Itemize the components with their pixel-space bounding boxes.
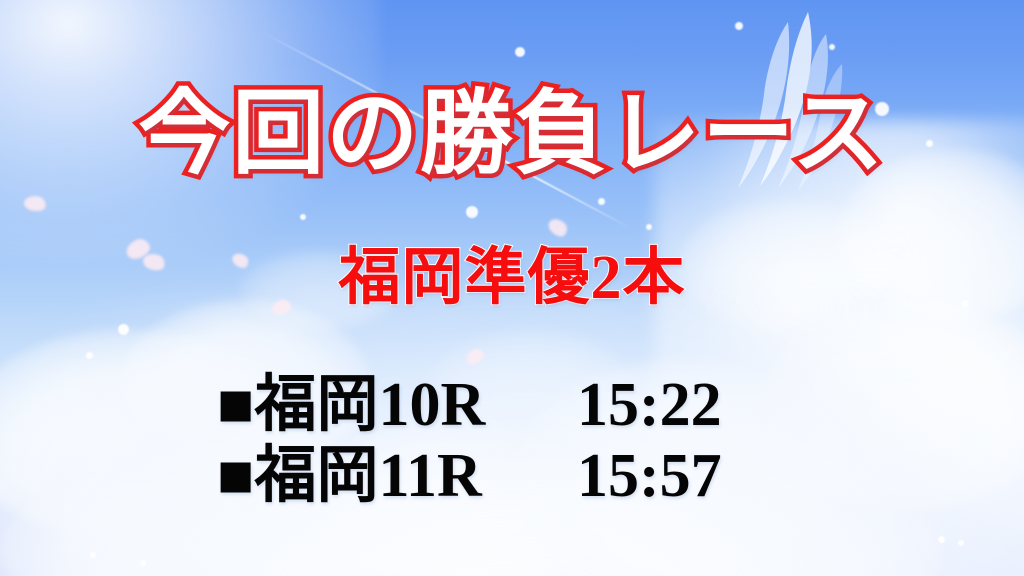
race-time-label: 15:22 bbox=[577, 370, 807, 441]
race-row: ■福岡10R 15:22 bbox=[217, 370, 807, 441]
race-list: ■福岡10R 15:22 ■福岡11R 15:57 bbox=[0, 370, 1024, 511]
subtitle: 福岡準優2本 bbox=[0, 246, 1024, 311]
race-time-label: 15:57 bbox=[577, 441, 807, 512]
race-row: ■福岡11R 15:57 bbox=[217, 441, 807, 512]
race-venue-label: ■福岡11R bbox=[217, 441, 577, 512]
slide-canvas: 今回の勝負レース 福岡準優2本 ■福岡10R 15:22 ■福岡11R 15:5… bbox=[0, 0, 1024, 576]
text-content: 今回の勝負レース 福岡準優2本 ■福岡10R 15:22 ■福岡11R 15:5… bbox=[0, 0, 1024, 576]
race-venue-label: ■福岡10R bbox=[217, 370, 577, 441]
main-title: 今回の勝負レース bbox=[0, 84, 1024, 183]
